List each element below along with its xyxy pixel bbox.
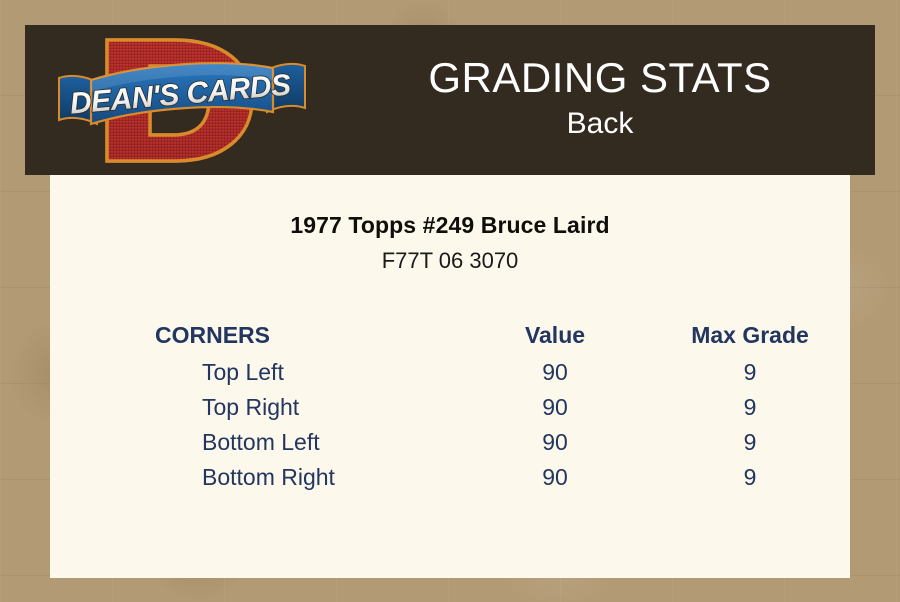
grading-stats-table: CORNERS Value Max Grade Top Left 90 9 To… bbox=[50, 315, 850, 495]
deans-cards-logo: DEAN'S CARDS bbox=[47, 28, 317, 173]
card-title: 1977 Topps #249 Bruce Laird bbox=[50, 212, 850, 239]
card-heading: 1977 Topps #249 Bruce Laird F77T 06 3070 bbox=[50, 212, 850, 274]
page-title: GRADING STATS bbox=[428, 56, 771, 100]
column-header-value: Value bbox=[460, 315, 650, 355]
table-row: Top Left 90 9 bbox=[50, 355, 850, 390]
row-value: 90 bbox=[460, 355, 650, 390]
column-header-max-grade: Max Grade bbox=[650, 315, 850, 355]
header-bar: DEAN'S CARDS GRADING STATS Back bbox=[25, 25, 875, 175]
row-max-grade: 9 bbox=[650, 460, 850, 495]
row-value: 90 bbox=[460, 425, 650, 460]
table-row: Top Right 90 9 bbox=[50, 390, 850, 425]
table-header-row: CORNERS Value Max Grade bbox=[50, 315, 850, 355]
header-titles: GRADING STATS Back bbox=[325, 25, 875, 175]
table-row: Bottom Left 90 9 bbox=[50, 425, 850, 460]
row-max-grade: 9 bbox=[650, 355, 850, 390]
row-max-grade: 9 bbox=[650, 425, 850, 460]
table-row: Bottom Right 90 9 bbox=[50, 460, 850, 495]
row-label: Top Left bbox=[50, 355, 460, 390]
row-value: 90 bbox=[460, 460, 650, 495]
column-header-corners: CORNERS bbox=[50, 315, 460, 355]
row-max-grade: 9 bbox=[650, 390, 850, 425]
row-label: Bottom Left bbox=[50, 425, 460, 460]
card-code: F77T 06 3070 bbox=[50, 248, 850, 274]
page-subtitle: Back bbox=[567, 104, 634, 145]
row-label: Bottom Right bbox=[50, 460, 460, 495]
row-label: Top Right bbox=[50, 390, 460, 425]
row-value: 90 bbox=[460, 390, 650, 425]
